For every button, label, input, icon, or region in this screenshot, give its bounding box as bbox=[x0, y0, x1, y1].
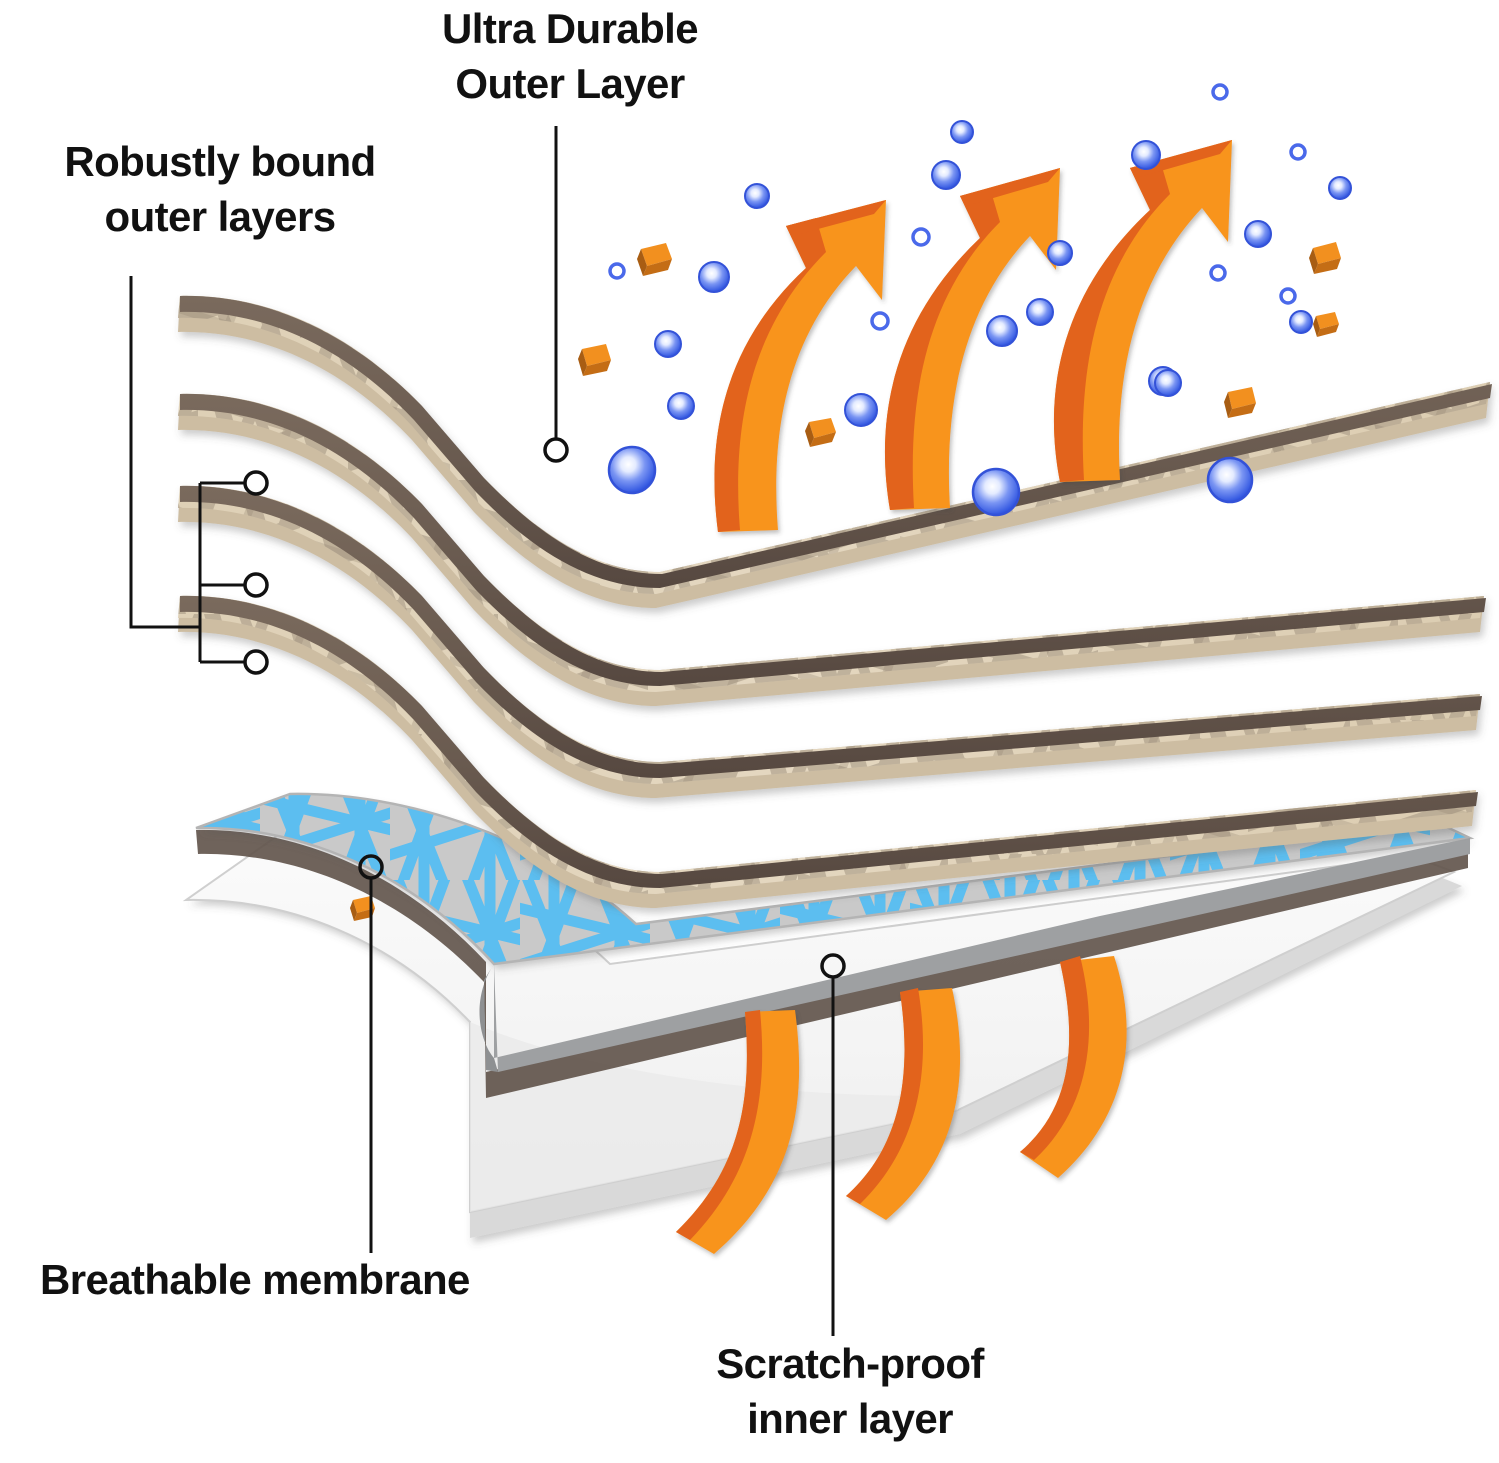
dirt-cube bbox=[1313, 312, 1339, 337]
moisture-arrow-2 bbox=[885, 168, 1060, 510]
label-breathable-membrane: Breathable membrane bbox=[40, 1253, 730, 1308]
label-scratch-proof-inner-layer: Scratch-proof inner layer bbox=[600, 1337, 1100, 1446]
marker-bound-2 bbox=[245, 574, 267, 596]
marker-bound-3 bbox=[245, 651, 267, 673]
marker-outer-layer bbox=[545, 439, 567, 461]
label-robustly-bound-outer-layers: Robustly bound outer layers bbox=[0, 135, 440, 244]
diagram-canvas: Ultra Durable Outer Layer Robustly bound… bbox=[0, 0, 1499, 1463]
moisture-arrow-1 bbox=[714, 200, 886, 532]
dirt-cube bbox=[637, 243, 672, 276]
marker-bound-1 bbox=[245, 472, 267, 494]
moisture-arrow-3 bbox=[1054, 140, 1232, 482]
label-ultra-durable-outer-layer: Ultra Durable Outer Layer bbox=[330, 2, 810, 111]
dirt-cube bbox=[1224, 387, 1256, 418]
dirt-cube bbox=[578, 344, 611, 376]
dirt-cube bbox=[1309, 242, 1341, 274]
dirt-cube bbox=[805, 418, 836, 447]
